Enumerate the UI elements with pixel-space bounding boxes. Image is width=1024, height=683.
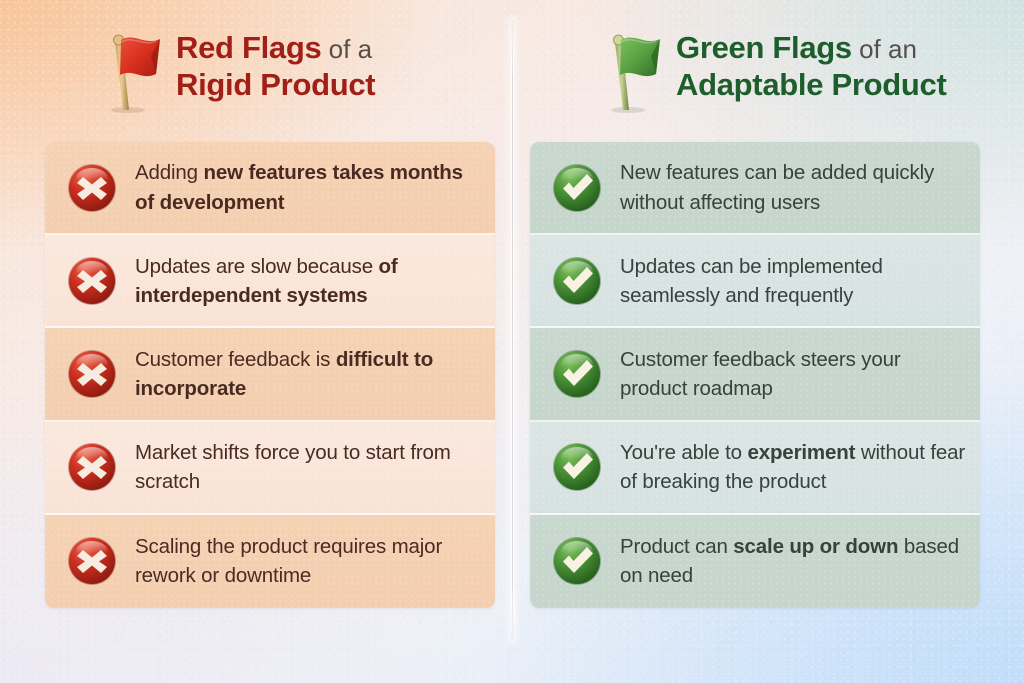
red-flag-list-item: Market shifts force you to start from sc…	[45, 422, 495, 515]
red-flag-list-item-text: Adding new features takes months of deve…	[135, 158, 481, 216]
red-flag-icon	[98, 32, 166, 114]
left-title-block: Red Flags of a Rigid Product	[176, 28, 375, 100]
emphasis-text: scale up or down	[733, 535, 898, 558]
plain-text: Market shifts force you to start from sc…	[135, 441, 451, 493]
check-mark-icon	[552, 256, 602, 306]
green-flag-list-item-text: Product can scale up or down based on ne…	[620, 532, 966, 590]
check-mark-icon	[552, 536, 602, 586]
green-flag-list-item-text: Customer feedback steers your product ro…	[620, 345, 966, 403]
check-mark-icon	[552, 349, 602, 399]
red-flag-list-item: Customer feedback is difficult to incorp…	[45, 328, 495, 421]
check-mark-icon	[552, 442, 602, 492]
x-cross-icon	[67, 536, 117, 586]
center-divider	[511, 20, 514, 640]
check-mark-icon	[552, 256, 602, 306]
plain-text: Updates can be implemented seamlessly an…	[620, 255, 883, 307]
right-title-light-1: of an	[852, 34, 917, 64]
x-cross-icon	[67, 442, 117, 492]
green-flags-list-panel: New features can be added quickly withou…	[530, 142, 980, 608]
x-cross-icon	[67, 349, 117, 399]
right-title-strong-1: Green Flags	[676, 30, 852, 65]
left-column-header: Red Flags of a Rigid Product	[98, 28, 375, 114]
red-flag-list-item: Scaling the product requires major rewor…	[45, 515, 495, 608]
green-flag-list-item-text: Updates can be implemented seamlessly an…	[620, 252, 966, 310]
green-flag-list-item: Updates can be implemented seamlessly an…	[530, 235, 980, 328]
right-column-header: Green Flags of an Adaptable Product	[598, 28, 946, 114]
x-cross-icon	[67, 256, 117, 306]
x-cross-icon	[67, 442, 117, 492]
plain-text: Scaling the product requires major rewor…	[135, 535, 442, 587]
plain-text: Customer feedback is	[135, 348, 336, 371]
green-flag-list-item: Product can scale up or down based on ne…	[530, 515, 980, 608]
plain-text: Customer feedback steers your product ro…	[620, 348, 901, 400]
plain-text: New features can be added quickly withou…	[620, 161, 934, 213]
left-title-light-1: of a	[321, 34, 372, 64]
red-flag-list-item-text: Updates are slow because of interdepende…	[135, 252, 481, 310]
plain-text: Product can	[620, 535, 733, 558]
red-flag-list-item: Adding new features takes months of deve…	[45, 142, 495, 235]
green-flag-icon	[598, 32, 666, 114]
left-title-strong-1: Red Flags	[176, 30, 321, 65]
x-cross-icon	[67, 163, 117, 213]
plain-text: You're able to	[620, 441, 747, 464]
green-flag-list-item: Customer feedback steers your product ro…	[530, 328, 980, 421]
red-flags-list-panel: Adding new features takes months of deve…	[45, 142, 495, 608]
emphasis-text: experiment	[747, 441, 855, 464]
check-mark-icon	[552, 349, 602, 399]
red-flag-list-item-text: Customer feedback is difficult to incorp…	[135, 345, 481, 403]
x-cross-icon	[67, 349, 117, 399]
infographic-canvas: Red Flags of a Rigid Product	[0, 0, 1024, 683]
right-title-strong-2: Adaptable Product	[676, 67, 946, 102]
check-mark-icon	[552, 163, 602, 213]
red-flag-list-item: Updates are slow because of interdepende…	[45, 235, 495, 328]
green-flag-list-item-text: You're able to experiment without fear o…	[620, 438, 966, 496]
green-flag-list-item: You're able to experiment without fear o…	[530, 422, 980, 515]
red-flag-list-item-text: Scaling the product requires major rewor…	[135, 532, 481, 590]
right-title-block: Green Flags of an Adaptable Product	[676, 28, 946, 100]
x-cross-icon	[67, 256, 117, 306]
check-mark-icon	[552, 442, 602, 492]
green-flag-list-item-text: New features can be added quickly withou…	[620, 158, 966, 216]
x-cross-icon	[67, 163, 117, 213]
red-flag-list-item-text: Market shifts force you to start from sc…	[135, 438, 481, 496]
check-mark-icon	[552, 163, 602, 213]
check-mark-icon	[552, 536, 602, 586]
plain-text: Updates are slow because	[135, 255, 379, 278]
plain-text: Adding	[135, 161, 203, 184]
green-flag-list-item: New features can be added quickly withou…	[530, 142, 980, 235]
x-cross-icon	[67, 536, 117, 586]
left-title-strong-2: Rigid Product	[176, 67, 375, 102]
